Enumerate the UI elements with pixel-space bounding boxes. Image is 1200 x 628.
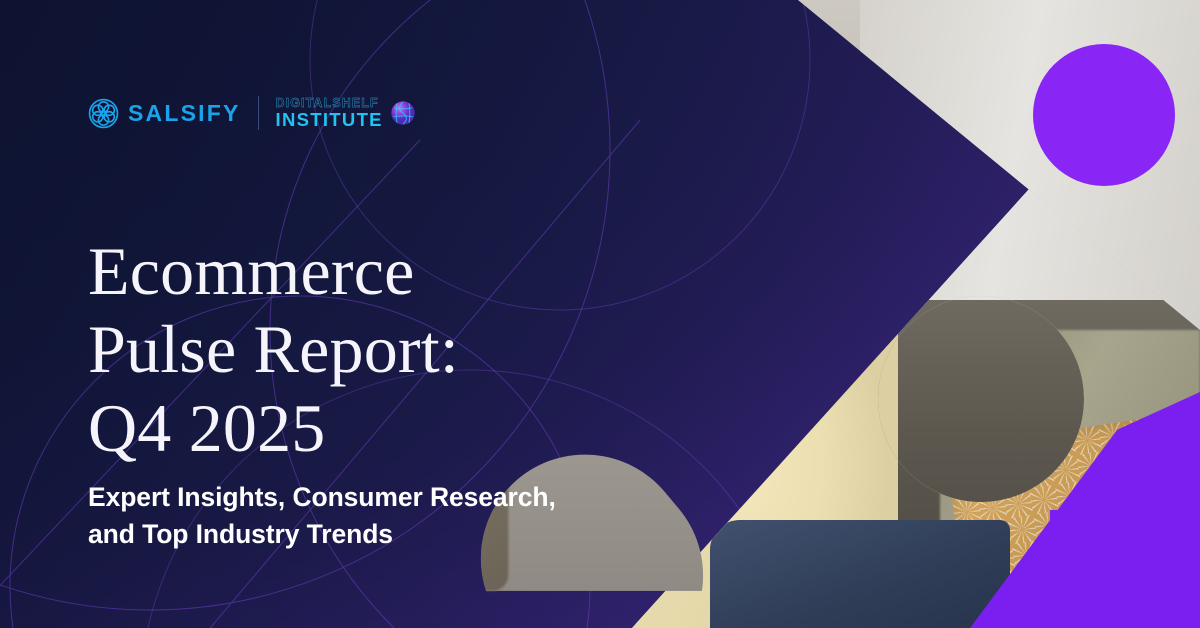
- photo-headphone-cup-left: [664, 120, 708, 198]
- salsify-wordmark: SALSIFY: [128, 102, 241, 125]
- page-subtitle: Expert Insights, Consumer Research, and …: [88, 479, 588, 554]
- page-title: Ecommerce Pulse Report: Q4 2025: [88, 232, 608, 469]
- circle-photo-cutout: [878, 296, 1084, 502]
- photo-face: [690, 48, 822, 218]
- logo-lockup: SALSIFY DIGITALSHELF INSTITUTE: [88, 96, 416, 130]
- salsify-rosette-icon: [88, 98, 119, 129]
- text-content-column: SALSIFY DIGITALSHELF INSTITUTE: [0, 0, 640, 628]
- digital-shelf-institute-logo[interactable]: DIGITALSHELF INSTITUTE: [276, 97, 416, 130]
- dsi-wordmark: DIGITALSHELF INSTITUTE: [276, 97, 383, 130]
- photo-scene-circle: [878, 296, 1084, 502]
- dsi-line-institute: INSTITUTE: [276, 111, 383, 130]
- photo-headphone-cup-right: [810, 120, 854, 198]
- hero-photo-composition: [560, 0, 1200, 628]
- photo-hair: [670, 28, 846, 234]
- photo-turtleneck: [686, 196, 824, 282]
- brain-sphere-icon: [390, 100, 416, 126]
- ecommerce-pulse-report-banner: SALSIFY DIGITALSHELF INSTITUTE: [0, 0, 1200, 628]
- photo-sweater-circle: [878, 296, 898, 502]
- photo-sofa-circle: [878, 300, 1084, 502]
- logo-divider: [258, 96, 259, 130]
- purple-circle-decoration: [1033, 44, 1175, 186]
- salsify-logo[interactable]: SALSIFY: [88, 98, 241, 129]
- dsi-line-digitalshelf: DIGITALSHELF: [276, 97, 383, 110]
- photo-jeans: [710, 520, 1010, 628]
- photo-headphone-band: [680, 26, 836, 146]
